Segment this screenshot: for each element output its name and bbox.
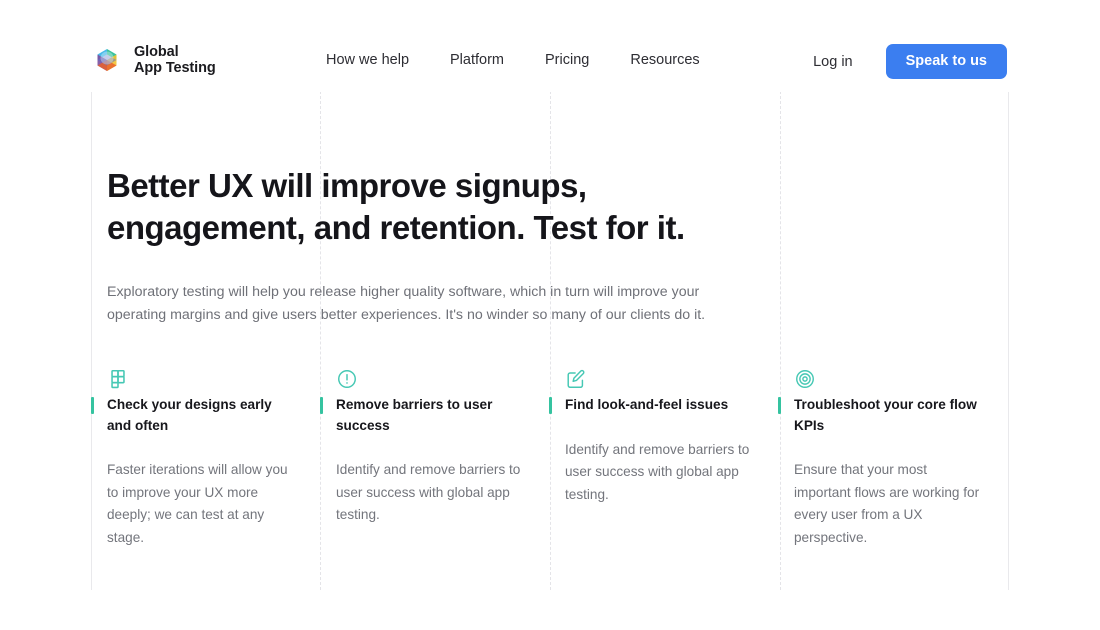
feature-card-core-flow-kpis: Troubleshoot your core flow KPIs Ensure … [794, 368, 1023, 550]
page-title: Better UX will improve signups, engageme… [107, 165, 777, 249]
feature-card-body: Faster iterations will allow you to impr… [107, 459, 299, 549]
feature-card-look-and-feel: Find look-and-feel issues Identify and r… [565, 368, 794, 550]
accent-bar [549, 397, 552, 414]
landing-page: Global App Testing How we help Platform … [0, 0, 1100, 630]
header-actions: Log in Speak to us [813, 44, 1007, 79]
accent-bar [320, 397, 323, 414]
feature-card-heading-wrap: Check your designs early and often [107, 395, 305, 436]
nav-item-platform[interactable]: Platform [450, 52, 504, 68]
feature-card-remove-barriers: Remove barriers to user success Identify… [336, 368, 565, 550]
brand-logo[interactable]: Global App Testing [89, 42, 216, 78]
feature-card-heading-wrap: Find look-and-feel issues [565, 395, 763, 416]
edit-square-icon [565, 377, 587, 394]
grid-line-left-edge [91, 86, 92, 590]
feature-card-title: Check your designs early and often [107, 395, 295, 436]
nav-item-pricing[interactable]: Pricing [545, 52, 589, 68]
site-header: Global App Testing How we help Platform … [0, 0, 1100, 92]
feature-card-heading-wrap: Troubleshoot your core flow KPIs [794, 395, 992, 436]
primary-nav: How we help Platform Pricing Resources [326, 52, 700, 68]
feature-card-body: Identify and remove barriers to user suc… [336, 459, 528, 527]
hero-section: Better UX will improve signups, engageme… [107, 86, 1007, 327]
feature-card-body: Identify and remove barriers to user suc… [565, 439, 757, 507]
feature-card-check-designs: Check your designs early and often Faste… [107, 368, 336, 550]
global-app-testing-hexagon-logo-icon [89, 42, 125, 78]
nav-item-resources[interactable]: Resources [630, 52, 699, 68]
brand-line-1: Global [134, 44, 216, 60]
nav-item-how-we-help[interactable]: How we help [326, 52, 409, 68]
feature-card-list: Check your designs early and often Faste… [107, 368, 1008, 550]
alert-circle-icon [336, 377, 358, 394]
feature-card-title: Find look-and-feel issues [565, 395, 753, 416]
feature-card-title: Remove barriers to user success [336, 395, 524, 436]
figma-components-icon [107, 377, 129, 394]
brand-wordmark: Global App Testing [134, 44, 216, 76]
login-link[interactable]: Log in [813, 54, 853, 70]
target-bullseye-icon [794, 377, 816, 394]
brand-line-2: App Testing [134, 60, 216, 76]
feature-card-title: Troubleshoot your core flow KPIs [794, 395, 982, 436]
speak-to-us-button[interactable]: Speak to us [886, 44, 1007, 79]
feature-card-body: Ensure that your most important flows ar… [794, 459, 986, 549]
accent-bar [778, 397, 781, 414]
feature-card-heading-wrap: Remove barriers to user success [336, 395, 534, 436]
hero-subheading: Exploratory testing will help you releas… [107, 281, 762, 327]
accent-bar [91, 397, 94, 414]
